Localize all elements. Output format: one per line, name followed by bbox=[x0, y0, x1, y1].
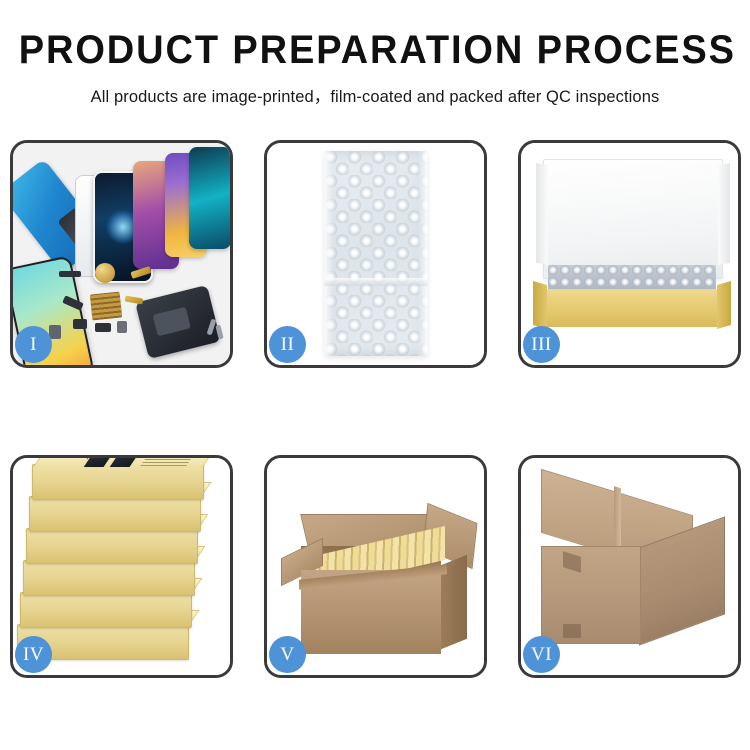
step-card-5: V bbox=[264, 455, 487, 678]
carton-tab bbox=[563, 624, 581, 638]
small-part-icon bbox=[73, 319, 87, 329]
stacked-box: Mobile Phone Spare Parts bbox=[32, 464, 204, 500]
battery-connector-icon bbox=[95, 323, 111, 332]
stacked-box bbox=[20, 592, 192, 628]
chip-grid-icon bbox=[90, 292, 123, 321]
step-badge-6: VI bbox=[523, 636, 560, 673]
bubble-wrapped-contents-icon bbox=[548, 265, 716, 291]
carton-front-face bbox=[541, 546, 641, 644]
open-carton-icon bbox=[283, 498, 473, 658]
step-badge-4: IV bbox=[15, 636, 52, 673]
page-subtitle: All products are image-printed，film-coat… bbox=[0, 83, 750, 107]
stacked-box bbox=[26, 528, 198, 564]
stacked-box bbox=[23, 560, 195, 596]
bubble-wrap-icon bbox=[324, 151, 427, 356]
process-steps-grid: I II III bbox=[10, 140, 740, 678]
teal-phone-icon bbox=[189, 147, 230, 249]
step-card-3: III bbox=[518, 140, 741, 368]
step-badge-3: III bbox=[523, 326, 560, 363]
inner-box-base-icon bbox=[543, 289, 721, 327]
sealed-carton-icon bbox=[535, 492, 727, 652]
step-badge-5: V bbox=[269, 636, 306, 673]
stacked-box: Mobile Phone Spare Parts bbox=[29, 496, 201, 532]
tray-part-icon bbox=[49, 325, 61, 339]
step-card-4: Mobile Phone Spare Parts Mobile Phone Sp… bbox=[10, 455, 233, 678]
step-badge-2: II bbox=[269, 326, 306, 363]
step-card-2: II bbox=[264, 140, 487, 368]
product-preparation-infographic: PRODUCT PREPARATION PROCESS All products… bbox=[0, 0, 750, 750]
bubble-wrap-edge-left bbox=[324, 151, 334, 356]
button-part-icon bbox=[117, 321, 127, 333]
page-header: PRODUCT PREPARATION PROCESS All products… bbox=[0, 0, 750, 107]
part-icon bbox=[59, 271, 81, 277]
bubble-wrap-edge-right bbox=[417, 151, 427, 356]
connector-icon bbox=[125, 295, 144, 304]
speaker-part-icon bbox=[95, 263, 115, 283]
phone-back-cover-icon bbox=[135, 285, 221, 359]
inner-box-lid-icon bbox=[543, 159, 723, 279]
box-stack-icon: Mobile Phone Spare Parts Mobile Phone Sp… bbox=[17, 472, 227, 666]
step-card-1: I bbox=[10, 140, 233, 368]
step-badge-1: I bbox=[15, 326, 52, 363]
page-title: PRODUCT PREPARATION PROCESS bbox=[19, 30, 732, 70]
step-card-6: VI bbox=[518, 455, 741, 678]
